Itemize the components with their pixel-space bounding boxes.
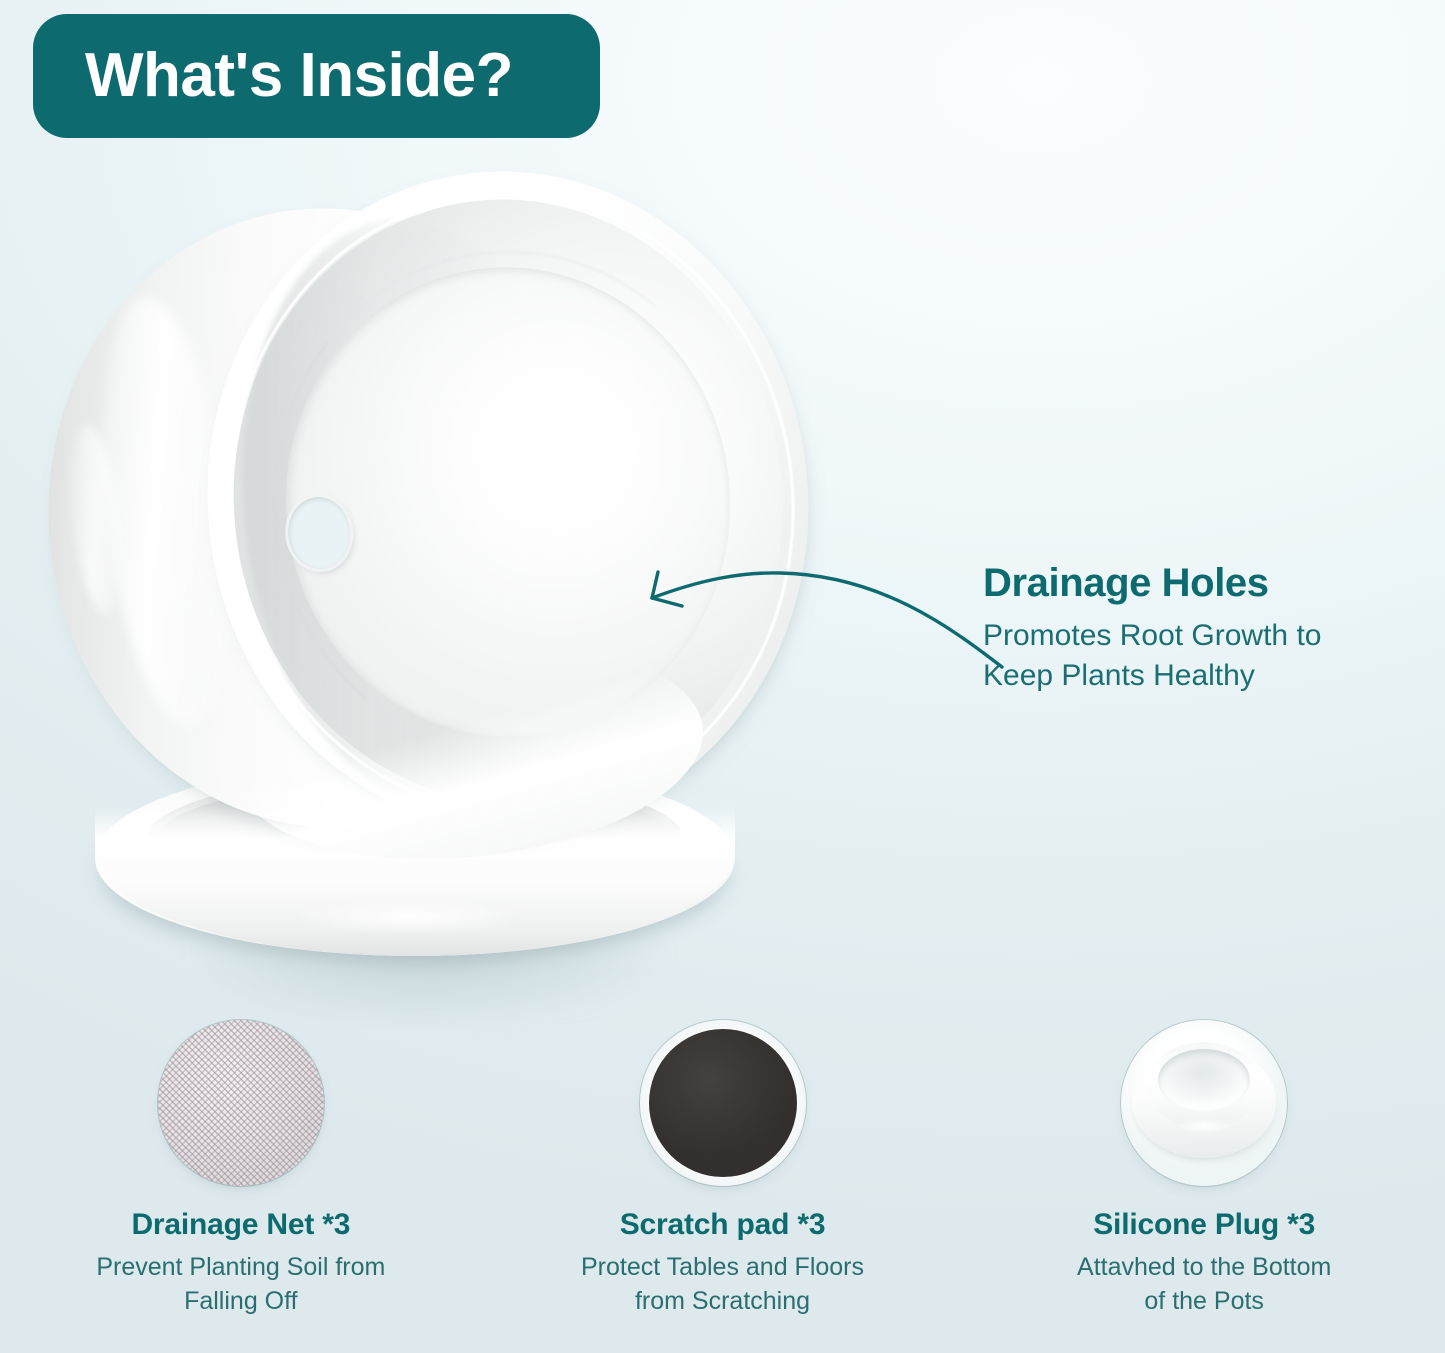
page-title: What's Inside?: [85, 45, 513, 107]
feature-description-line-1: Protect Tables and Floors: [581, 1251, 864, 1285]
feature-item: Scratch pad *3 Protect Tables and Floors…: [482, 1020, 964, 1353]
callout-title: Drainage Holes: [983, 562, 1413, 604]
feature-title: Scratch pad *3: [620, 1208, 826, 1241]
feature-description-line-2: Falling Off: [96, 1285, 385, 1319]
feature-description-line-2: from Scratching: [581, 1285, 864, 1319]
feature-description-line-2: of the Pots: [1077, 1285, 1331, 1319]
drainage-net-mesh: [158, 1020, 324, 1186]
product-infographic: What's Inside?: [0, 0, 1445, 1353]
feature-description: Protect Tables and Floors from Scratchin…: [581, 1251, 864, 1318]
feature-title: Drainage Net *3: [131, 1208, 350, 1241]
feature-row: Drainage Net *3 Prevent Planting Soil fr…: [0, 1020, 1445, 1353]
drainage-net-icon: [158, 1020, 324, 1186]
scratch-pad-icon: [640, 1020, 806, 1186]
callout-description: Promotes Root Growth to Keep Plants Heal…: [983, 616, 1413, 695]
feature-title: Silicone Plug *3: [1093, 1208, 1315, 1241]
drainage-holes-callout: Drainage Holes Promotes Root Growth to K…: [983, 562, 1413, 695]
feature-description-line-1: Attavhed to the Bottom: [1077, 1251, 1331, 1285]
feature-description: Attavhed to the Bottom of the Pots: [1077, 1251, 1331, 1318]
silicone-plug-highlight: [1167, 1116, 1241, 1136]
page-title-badge: What's Inside?: [33, 14, 600, 138]
silicone-plug-icon: [1121, 1020, 1287, 1186]
ceramic-pot: [6, 142, 844, 909]
feature-description-line-1: Prevent Planting Soil from: [96, 1251, 385, 1285]
callout-description-line-1: Promotes Root Growth to: [983, 616, 1413, 656]
silicone-plug-inner-recess: [1158, 1049, 1250, 1111]
curved-arrow-icon: [630, 555, 1010, 685]
saucer-gloss-highlight: [245, 892, 575, 942]
scratch-pad-disc: [649, 1029, 797, 1177]
feature-item: Silicone Plug *3 Attavhed to the Bottom …: [963, 1020, 1445, 1353]
feature-item: Drainage Net *3 Prevent Planting Soil fr…: [0, 1020, 482, 1353]
callout-description-line-2: Keep Plants Healthy: [983, 656, 1413, 696]
feature-description: Prevent Planting Soil from Falling Off: [96, 1251, 385, 1318]
